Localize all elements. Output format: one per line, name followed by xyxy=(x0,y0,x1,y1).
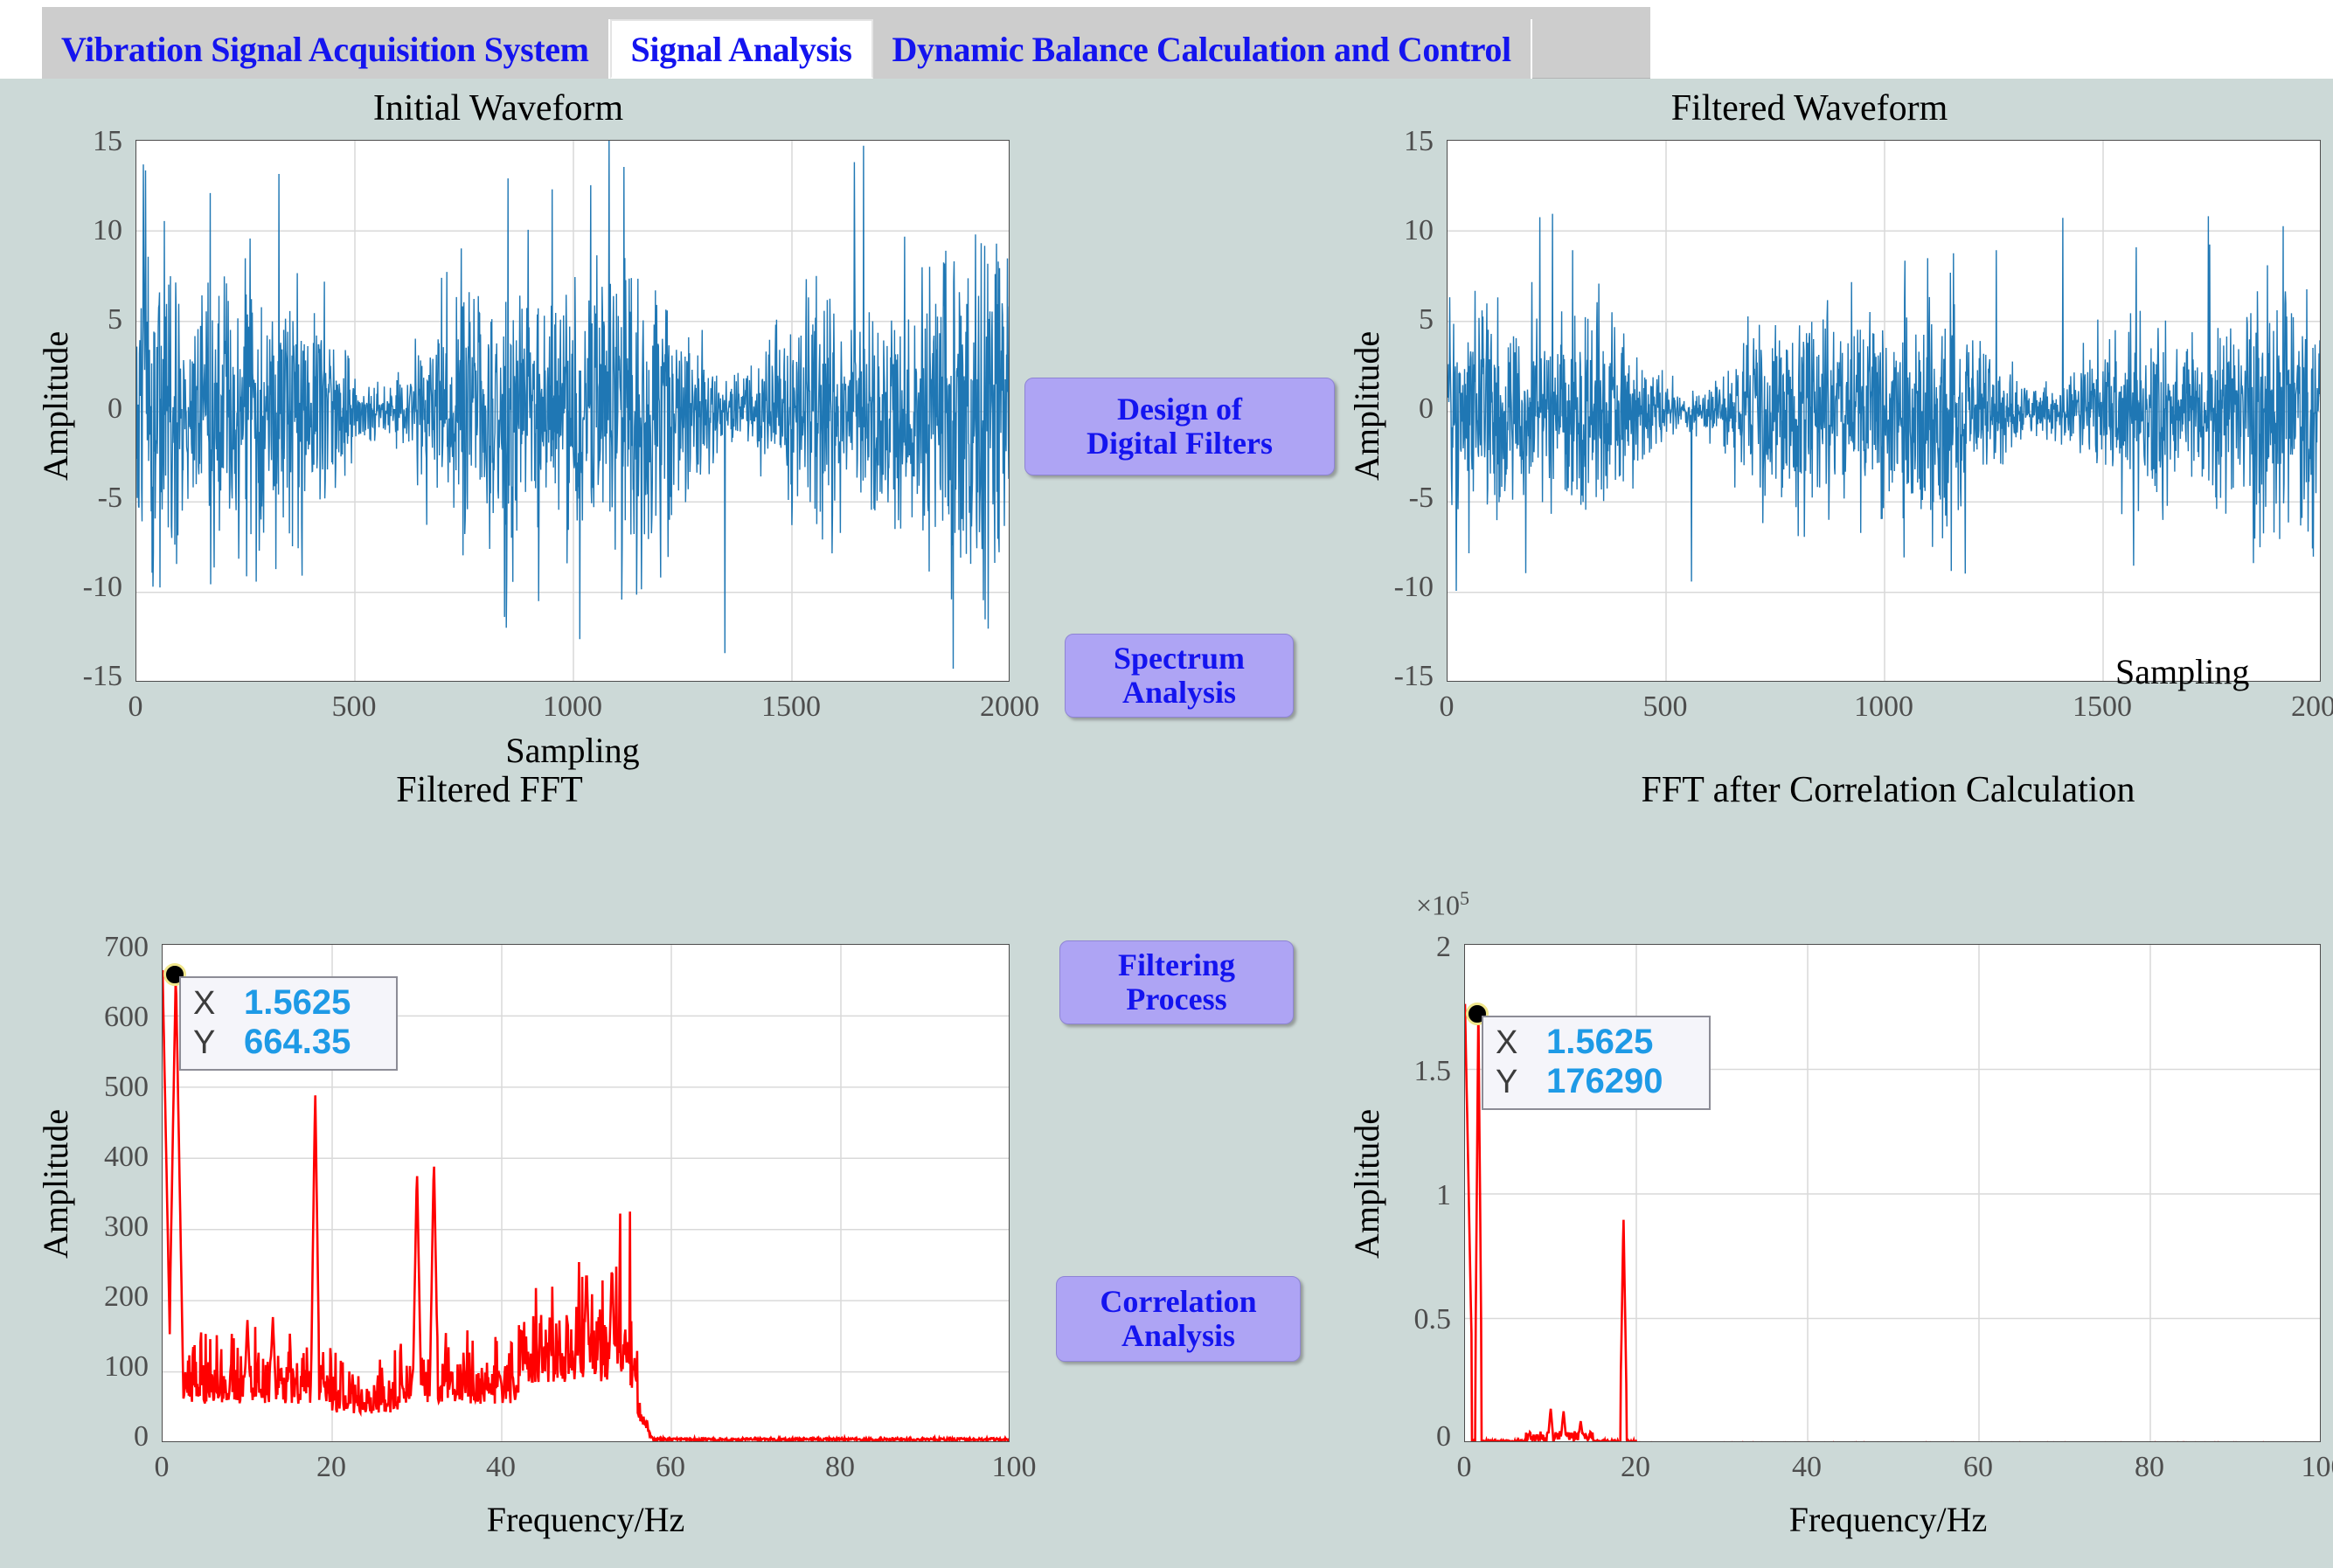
signal-analysis-panel: Initial Waveform Amplitude 15 10 5 0 -5 … xyxy=(0,79,2333,1568)
button-line-1: Spectrum xyxy=(1114,642,1245,676)
x-tick-label: 100 xyxy=(962,1451,1066,1484)
y-tick-label: -15 xyxy=(17,660,122,693)
plot-area xyxy=(135,140,1010,682)
chart-fft-after-correlation: FFT after Correlation Calculation ×105 A… xyxy=(1311,769,2333,1556)
y-axis-exponent: ×105 xyxy=(1416,887,1469,922)
chart-filtered-waveform: Filtered Waveform Amplitude 15 10 5 0 -5… xyxy=(1311,79,2325,760)
waveform-svg xyxy=(136,141,1010,682)
x-tick-label: 2000 xyxy=(966,690,1053,724)
button-correlation-analysis[interactable]: Correlation Analysis xyxy=(1056,1276,1301,1362)
x-tick-label: 1000 xyxy=(529,690,616,724)
x-tick-label: 500 xyxy=(310,690,398,724)
waveform-svg xyxy=(1448,141,2321,682)
button-line-2: Analysis xyxy=(1122,676,1236,710)
x-axis-label: Sampling xyxy=(2115,651,2333,692)
y-tick-label: 2 xyxy=(1320,931,1451,964)
chart-filtered-fft: Filtered FFT Amplitude 700 600 500 400 3… xyxy=(0,769,1014,1556)
x-tick-label: 0 xyxy=(1403,690,1490,724)
y-tick-label: 300 xyxy=(9,1211,149,1244)
y-tick-label: 500 xyxy=(9,1071,149,1104)
button-line-1: Correlation xyxy=(1100,1285,1256,1319)
tab-strip: Vibration Signal Acquisition System Sign… xyxy=(42,7,1650,79)
data-tip-y-value: 176290 xyxy=(1546,1062,1663,1101)
tab-signal-analysis[interactable]: Signal Analysis xyxy=(610,19,873,79)
button-spectrum-analysis[interactable]: Spectrum Analysis xyxy=(1065,634,1294,718)
y-tick-label: 600 xyxy=(9,1001,149,1034)
tab-dynamic-balance-calculation-and-control[interactable]: Dynamic Balance Calculation and Control xyxy=(873,19,1532,79)
x-tick-label: 40 xyxy=(457,1451,545,1484)
data-tip-x-label: X xyxy=(193,985,235,1023)
y-tick-label: -5 xyxy=(26,482,122,515)
application-window: Vibration Signal Acquisition System Sign… xyxy=(0,0,2333,1568)
button-line-1: Design of xyxy=(1117,392,1242,427)
data-tip-y-label: Y xyxy=(1496,1064,1538,1101)
data-tip-x-row: X 1.5625 xyxy=(1496,1023,1697,1062)
y-tick-label: -15 xyxy=(1329,660,1434,693)
plot-area xyxy=(1447,140,2321,682)
chart-title: Filtered FFT xyxy=(184,769,795,811)
tab-vibration-signal-acquisition-system[interactable]: Vibration Signal Acquisition System xyxy=(42,19,610,79)
data-tip-x-label: X xyxy=(1496,1024,1538,1062)
x-tick-label: 500 xyxy=(1621,690,1709,724)
y-tick-label: 200 xyxy=(9,1280,149,1314)
data-tip-x-value: 1.5625 xyxy=(244,983,351,1023)
x-tick-label: 100 xyxy=(2271,1451,2333,1484)
x-tick-label: 1500 xyxy=(747,690,835,724)
data-tip-y-value: 664.35 xyxy=(244,1023,351,1062)
y-tick-label: 0 xyxy=(26,392,122,426)
data-tip-x-value: 1.5625 xyxy=(1546,1023,1653,1062)
chart-title: FFT after Correlation Calculation xyxy=(1495,769,2281,811)
button-line-2: Digital Filters xyxy=(1087,427,1273,461)
x-tick-label: 2000 xyxy=(2277,690,2333,724)
y-exponent-base: ×10 xyxy=(1416,890,1460,921)
x-tick-label: 20 xyxy=(1592,1451,1679,1484)
button-line-2: Analysis xyxy=(1121,1319,1235,1353)
y-tick-label: 1.5 xyxy=(1320,1055,1451,1088)
y-tick-label: 700 xyxy=(9,931,149,964)
chart-initial-waveform: Initial Waveform Amplitude 15 10 5 0 -5 … xyxy=(0,79,1014,760)
x-tick-label: 60 xyxy=(1934,1451,2022,1484)
y-tick-label: 0 xyxy=(1337,392,1434,426)
y-tick-label: 10 xyxy=(1337,214,1434,247)
button-filtering-process[interactable]: Filtering Process xyxy=(1059,940,1294,1024)
y-tick-label: 5 xyxy=(26,303,122,336)
y-tick-label: 0 xyxy=(1320,1420,1451,1454)
y-tick-label: 400 xyxy=(9,1141,149,1174)
data-tip-x-row: X 1.5625 xyxy=(193,983,384,1023)
x-axis-label: Frequency/Hz xyxy=(323,1499,848,1540)
x-axis-label: Sampling xyxy=(354,730,791,771)
x-axis-label: Frequency/Hz xyxy=(1626,1499,2150,1540)
y-tick-label: 100 xyxy=(9,1350,149,1384)
y-tick-label: 0.5 xyxy=(1320,1303,1451,1336)
tab-row: Vibration Signal Acquisition System Sign… xyxy=(42,19,1532,79)
x-tick-label: 20 xyxy=(288,1451,375,1484)
y-exponent-power: 5 xyxy=(1460,887,1469,909)
x-tick-label: 1500 xyxy=(2059,690,2146,724)
x-tick-label: 0 xyxy=(118,1451,205,1484)
y-tick-label: -10 xyxy=(1329,571,1434,604)
data-tip-filtered-fft[interactable]: X 1.5625 Y 664.35 xyxy=(179,976,398,1071)
y-tick-label: -5 xyxy=(1337,482,1434,515)
x-tick-label: 80 xyxy=(2106,1451,2193,1484)
data-tip-y-row: Y 176290 xyxy=(1496,1062,1697,1101)
chart-title: Initial Waveform xyxy=(114,87,883,129)
x-tick-label: 0 xyxy=(1420,1451,1508,1484)
y-tick-label: 10 xyxy=(26,214,122,247)
button-design-of-digital-filters[interactable]: Design of Digital Filters xyxy=(1024,378,1335,475)
x-tick-label: 0 xyxy=(92,690,179,724)
data-tip-fft-correlation[interactable]: X 1.5625 Y 176290 xyxy=(1482,1016,1711,1110)
x-tick-label: 80 xyxy=(796,1451,884,1484)
data-tip-y-row: Y 664.35 xyxy=(193,1023,384,1062)
data-tip-y-label: Y xyxy=(193,1024,235,1062)
y-tick-label: 1 xyxy=(1320,1179,1451,1212)
y-tick-label: 0 xyxy=(9,1420,149,1454)
x-tick-label: 60 xyxy=(627,1451,714,1484)
x-tick-label: 1000 xyxy=(1840,690,1927,724)
button-line-2: Process xyxy=(1126,982,1226,1016)
button-line-1: Filtering xyxy=(1118,948,1235,982)
x-tick-label: 40 xyxy=(1763,1451,1850,1484)
y-tick-label: 5 xyxy=(1337,303,1434,336)
y-tick-label: 15 xyxy=(26,125,122,158)
y-tick-label: -10 xyxy=(17,571,122,604)
y-tick-label: 15 xyxy=(1337,125,1434,158)
chart-title: Filtered Waveform xyxy=(1416,87,2203,129)
